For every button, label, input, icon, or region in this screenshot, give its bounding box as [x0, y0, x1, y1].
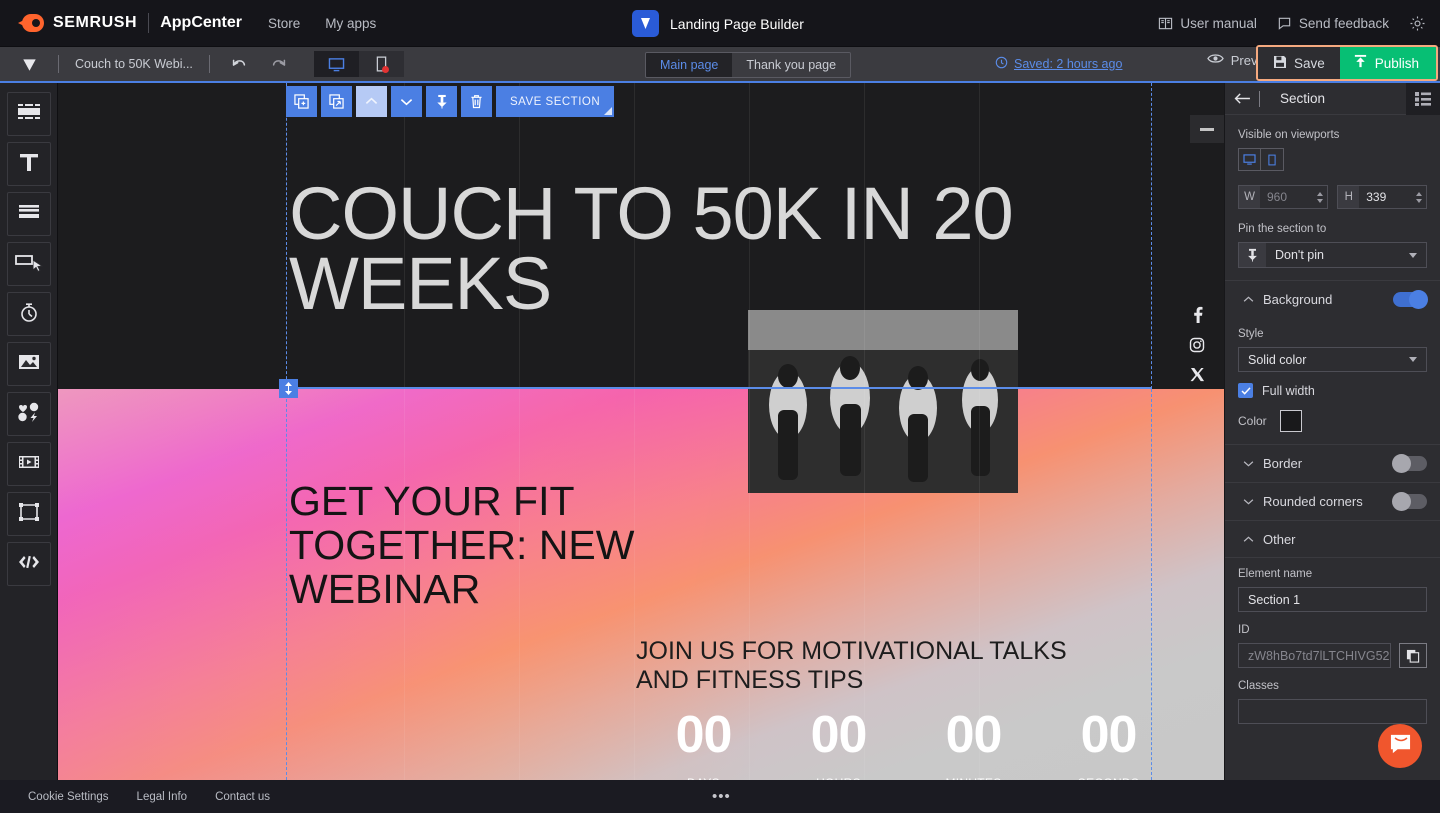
send-feedback-label: Send feedback [1299, 16, 1389, 31]
background-toggle[interactable] [1393, 292, 1427, 307]
style-value: Solid color [1248, 353, 1306, 367]
sidebar-item-video[interactable] [7, 442, 51, 486]
style-label: Style [1238, 328, 1427, 340]
border-toggle[interactable] [1393, 456, 1427, 471]
section-resize-handle[interactable] [279, 379, 298, 398]
countdown-hours-value: 00 [771, 709, 906, 761]
viewport-mobile-button[interactable] [359, 51, 404, 77]
video-film-icon [17, 453, 41, 476]
color-swatch[interactable] [1280, 410, 1302, 432]
countdown-seconds: 00 SECONDS [1041, 709, 1176, 780]
viewport-desktop-button[interactable] [314, 51, 359, 77]
sidebar-item-button[interactable] [7, 242, 51, 286]
panel-title: Section [1280, 91, 1325, 106]
publish-label: Publish [1375, 56, 1419, 71]
gradient-section[interactable]: GET YOUR FIT TOGETHER: NEW WEBINAR JOIN … [58, 389, 1224, 780]
footer-legal-info[interactable]: Legal Info [137, 791, 188, 803]
countdown-days-value: 00 [636, 709, 771, 761]
width-stepper[interactable] [1316, 192, 1327, 203]
user-manual-label: User manual [1180, 16, 1257, 31]
footer-more-button[interactable]: ••• [712, 788, 731, 805]
id-input[interactable]: zW8hBo7td7lLTCHIVG52It [1238, 643, 1391, 668]
other-title: Other [1263, 532, 1296, 547]
add-section-button[interactable] [286, 86, 317, 117]
footer-cookie-settings[interactable]: Cookie Settings [28, 791, 109, 803]
shape-frame-icon [18, 502, 40, 527]
hero-section[interactable]: COUCH TO 50K IN 20 WEEKS [58, 83, 1224, 389]
saved-status[interactable]: Saved: 2 hours ago [995, 56, 1122, 72]
width-value[interactable]: 960 [1260, 190, 1316, 204]
section-settings-panel: Section Visible on viewports W 960 [1224, 83, 1440, 780]
button-click-icon [14, 252, 43, 277]
footer-contact-us[interactable]: Contact us [215, 791, 270, 803]
top-nav: Store My apps [268, 16, 376, 31]
countdown-hours-label: HOURS [771, 776, 906, 780]
background-section-header[interactable]: Background [1225, 280, 1440, 318]
tab-main-page[interactable]: Main page [646, 53, 732, 77]
send-feedback-button[interactable]: Send feedback [1277, 16, 1389, 31]
viewports-label: Visible on viewports [1238, 129, 1427, 141]
sidebar-item-icons[interactable] [7, 392, 51, 436]
image-icon [17, 352, 41, 377]
viewport-error-dot [382, 66, 389, 73]
rounded-corners-title: Rounded corners [1263, 494, 1363, 509]
section-toolbar: SAVE SECTION [286, 86, 614, 117]
save-section-button[interactable]: SAVE SECTION [496, 86, 614, 117]
project-name[interactable]: Couch to 50K Webi... [59, 57, 209, 71]
gear-icon [1409, 15, 1426, 32]
instagram-icon[interactable] [1189, 337, 1205, 353]
full-width-label: Full width [1262, 384, 1315, 398]
height-key: H [1338, 186, 1359, 208]
element-name-input[interactable]: Section 1 [1238, 587, 1427, 612]
border-title: Border [1263, 456, 1302, 471]
tab-thank-you-page[interactable]: Thank you page [732, 53, 850, 77]
clock-icon [995, 56, 1008, 72]
brand-logo[interactable]: SEMRUSH AppCenter [18, 13, 242, 33]
id-label: ID [1238, 624, 1427, 636]
left-tool-rail [0, 83, 58, 780]
rounded-corners-toggle[interactable] [1393, 494, 1427, 509]
height-stepper[interactable] [1415, 192, 1426, 203]
move-section-up-button[interactable] [356, 86, 387, 117]
chevron-down-icon [1409, 253, 1417, 258]
sidebar-item-sections[interactable] [7, 92, 51, 136]
panel-header: Section [1225, 83, 1440, 115]
rounded-corners-section-header[interactable]: Rounded corners [1225, 482, 1440, 520]
width-field[interactable]: W 960 [1238, 185, 1328, 209]
brand-subtitle: AppCenter [160, 14, 242, 32]
page-canvas[interactable]: COUCH TO 50K IN 20 WEEKS [58, 83, 1224, 780]
border-section-header[interactable]: Border [1225, 444, 1440, 482]
classes-input[interactable] [1238, 699, 1427, 724]
intercom-chat-icon [1389, 733, 1412, 760]
move-section-down-button[interactable] [391, 86, 422, 117]
element-name-label: Element name [1238, 568, 1427, 580]
app-title: Landing Page Builder [670, 16, 804, 32]
top-header: SEMRUSH AppCenter Store My apps Landing … [0, 0, 1440, 47]
countdown-seconds-label: SECONDS [1041, 776, 1176, 780]
countdown-hours: 00 HOURS [771, 709, 906, 780]
code-icon [17, 554, 41, 575]
chat-bubble-icon [1277, 16, 1292, 31]
viewport-toggle [314, 51, 404, 77]
pin-section-select[interactable]: Don't pin [1238, 242, 1427, 268]
copy-section-button[interactable] [321, 86, 352, 117]
semrush-logo-icon [18, 14, 44, 32]
full-width-checkbox[interactable] [1238, 383, 1253, 398]
x-twitter-icon[interactable] [1190, 367, 1205, 382]
webinar-heading[interactable]: GET YOUR FIT TOGETHER: NEW WEBINAR [289, 480, 709, 612]
countdown-minutes-label: MINUTES [906, 776, 1041, 780]
chevron-down-icon [1238, 498, 1258, 505]
other-body: Element name Section 1 ID zW8hBo7td7lLTC… [1225, 558, 1440, 748]
height-field[interactable]: H 339 [1337, 185, 1427, 209]
panel-header-divider [1259, 91, 1260, 107]
sidebar-item-timer[interactable] [7, 292, 51, 336]
color-row: Color [1238, 410, 1427, 432]
panel-viewport-mobile[interactable] [1261, 148, 1284, 171]
user-manual-button[interactable]: User manual [1158, 16, 1257, 31]
sidebar-item-text[interactable] [7, 142, 51, 186]
panel-layers-button[interactable] [1406, 83, 1440, 115]
settings-button[interactable] [1409, 15, 1426, 32]
delete-section-button[interactable] [461, 86, 492, 117]
nav-store[interactable]: Store [268, 16, 300, 31]
toolbar-divider-2 [209, 55, 210, 73]
save-label: Save [1294, 56, 1325, 71]
undo-redo-group [226, 52, 292, 76]
countdown-days: 00 DAYS [636, 709, 771, 780]
book-icon [1158, 16, 1173, 31]
sidebar-item-layout[interactable] [7, 192, 51, 236]
background-body: Style Solid color Full width Color [1225, 318, 1440, 444]
collapse-panel-button[interactable] [1190, 115, 1224, 143]
undo-button[interactable] [226, 52, 252, 76]
save-publish-group: Save Publish [1256, 45, 1438, 81]
panel-viewport-desktop[interactable] [1238, 148, 1261, 171]
countdown-days-label: DAYS [636, 776, 771, 780]
copy-id-button[interactable] [1399, 643, 1427, 668]
footer: Cookie Settings Legal Info Contact us ••… [0, 780, 1440, 813]
icons-grid-icon [17, 402, 41, 427]
redo-button[interactable] [266, 52, 292, 76]
height-value[interactable]: 339 [1359, 190, 1415, 204]
pin-icon [1239, 243, 1266, 267]
panel-body: Visible on viewports W 960 H 339 [1225, 115, 1440, 268]
chevron-up-icon [1238, 296, 1258, 303]
size-row: W 960 H 339 [1238, 185, 1427, 209]
pin-value: Don't pin [1266, 248, 1409, 262]
chevron-down-icon [1238, 460, 1258, 467]
countdown-minutes: 00 MINUTES [906, 709, 1041, 780]
app-title-chip: Landing Page Builder [632, 10, 804, 37]
join-text[interactable]: JOIN US FOR MOTIVATIONAL TALKS AND FITNE… [636, 637, 1116, 696]
panel-back-button[interactable] [1225, 92, 1259, 105]
builder-logo-icon[interactable] [0, 56, 58, 73]
chevron-down-icon [1409, 357, 1417, 362]
chevron-up-icon [1238, 536, 1258, 543]
top-header-actions: User manual Send feedback [1158, 0, 1426, 47]
viewports-group [1238, 148, 1427, 171]
save-button[interactable]: Save [1258, 47, 1340, 79]
id-row: zW8hBo7td7lLTCHIVG52It [1238, 643, 1427, 668]
color-label: Color [1238, 414, 1267, 428]
hero-heading[interactable]: COUCH TO 50K IN 20 WEEKS [289, 179, 1079, 320]
page-tabs: Main page Thank you page [645, 52, 851, 78]
countdown-seconds-value: 00 [1041, 709, 1176, 761]
intercom-chat-button[interactable] [1378, 724, 1422, 768]
text-icon [18, 151, 40, 178]
full-width-row[interactable]: Full width [1238, 383, 1427, 398]
sidebar-item-image[interactable] [7, 342, 51, 386]
publish-button[interactable]: Publish [1340, 47, 1436, 79]
floppy-disk-icon [1273, 55, 1287, 72]
layout-rows-icon [17, 202, 41, 227]
width-key: W [1239, 186, 1260, 208]
social-links [1189, 306, 1205, 382]
brand-divider [148, 13, 149, 33]
countdown-minutes-value: 00 [906, 709, 1041, 761]
sidebar-item-code[interactable] [7, 542, 51, 586]
publish-upload-icon [1353, 54, 1368, 72]
nav-my-apps[interactable]: My apps [325, 16, 376, 31]
pin-section-label: Pin the section to [1238, 223, 1427, 235]
sidebar-item-shape[interactable] [7, 492, 51, 536]
eye-icon [1207, 52, 1224, 68]
brand-name: SEMRUSH [53, 14, 137, 32]
countdown-timer[interactable]: 00 DAYS 00 HOURS 00 MINUTES 00 SECONDS [636, 709, 1176, 780]
pin-section-button[interactable] [426, 86, 457, 117]
style-select[interactable]: Solid color [1238, 347, 1427, 372]
other-section-header[interactable]: Other [1225, 520, 1440, 558]
landing-page-builder-app: SEMRUSH AppCenter Store My apps Landing … [0, 0, 1440, 813]
runners-photo-top[interactable] [748, 310, 1018, 493]
landing-page-preview: COUCH TO 50K IN 20 WEEKS [58, 83, 1224, 780]
sections-icon [17, 102, 41, 127]
facebook-icon[interactable] [1190, 306, 1205, 323]
app-logo-icon [632, 10, 659, 37]
stopwatch-icon [18, 301, 40, 328]
classes-label: Classes [1238, 680, 1427, 692]
background-title: Background [1263, 292, 1332, 307]
saved-status-label: Saved: 2 hours ago [1014, 57, 1122, 71]
